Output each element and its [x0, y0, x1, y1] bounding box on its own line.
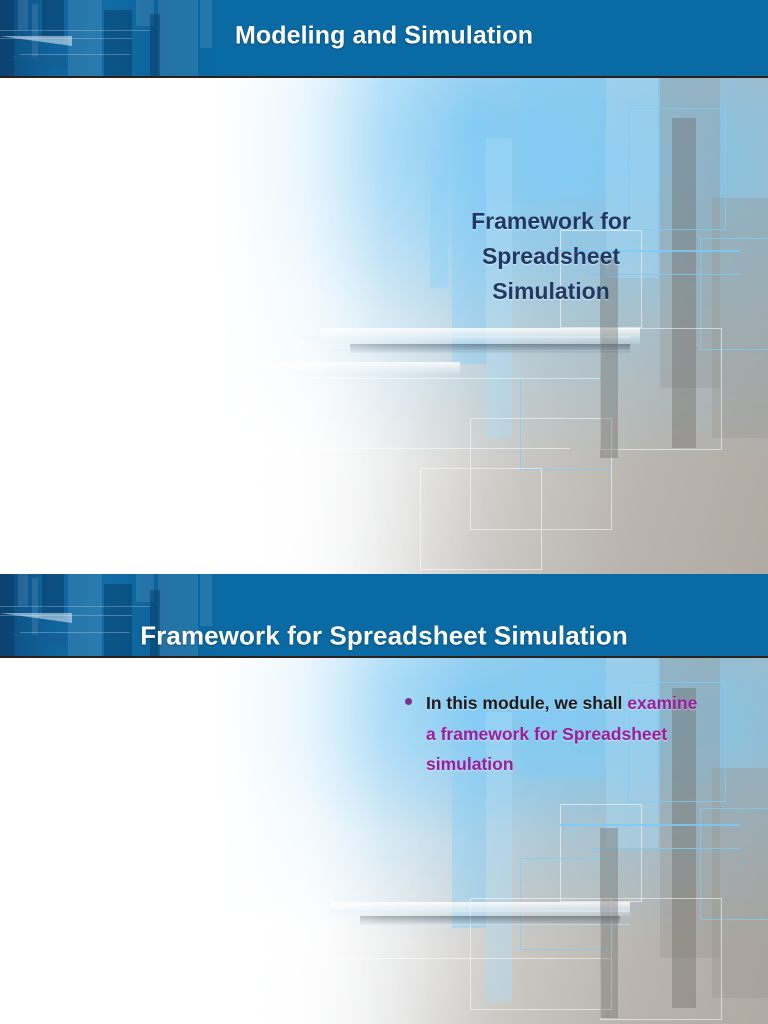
slide-deck-page: Modeling and Simulation — [0, 0, 768, 1024]
bullet-lead-text: In this module, we shall — [426, 693, 627, 713]
slide-2-title: Framework for Spreadsheet Simulation — [0, 621, 768, 652]
slide-2-banner: Framework for Spreadsheet Simulation — [0, 574, 768, 658]
bullet-dot-icon — [405, 698, 412, 705]
center-title-line-3: Simulation — [452, 274, 650, 309]
slide-2-body: In this module, we shall examine a frame… — [0, 658, 768, 1024]
center-title-line-1: Framework for — [452, 204, 650, 239]
slide-1-title: Modeling and Simulation — [0, 22, 768, 51]
slide-2-bullet-text: In this module, we shall examine a frame… — [426, 688, 705, 780]
slide-1: Modeling and Simulation — [0, 0, 768, 574]
center-title-line-2: Spreadsheet — [452, 239, 650, 274]
slide-1-banner: Modeling and Simulation — [0, 0, 768, 78]
slide-2: Framework for Spreadsheet Simulation — [0, 574, 768, 1024]
slide-1-body: Framework for Spreadsheet Simulation — [0, 78, 768, 574]
slide-2-bullet-item: In this module, we shall examine a frame… — [405, 688, 705, 780]
slide-1-center-title: Framework for Spreadsheet Simulation — [452, 204, 650, 309]
